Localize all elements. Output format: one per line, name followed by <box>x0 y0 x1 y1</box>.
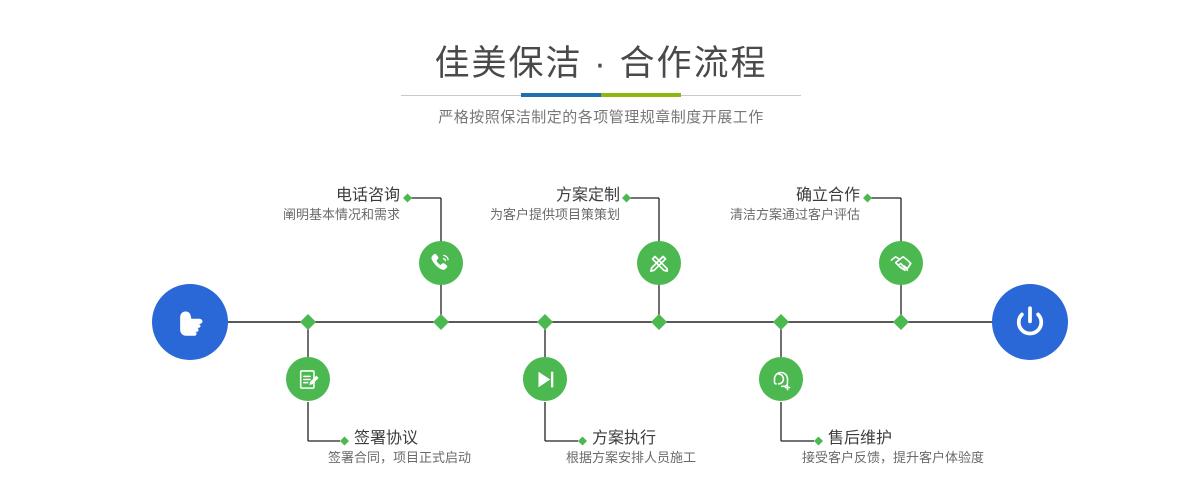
customer-service-icon <box>768 366 794 392</box>
label-step-6: 售后维护 接受客户反馈，提升客户体验度 <box>828 429 1128 467</box>
power-icon <box>1010 302 1050 342</box>
label-step-5-title: 确立合作 <box>610 186 860 206</box>
phone-ringing-icon <box>428 250 454 276</box>
timeline-diamond-step-5 <box>893 314 909 330</box>
process-flow-infographic: 佳美保洁 · 合作流程 严格按照保洁制定的各项管理规章制度开展工作 <box>0 0 1202 502</box>
label-step-3-title: 方案定制 <box>370 186 620 206</box>
pencil-ruler-icon <box>646 250 672 276</box>
node-step-2-sign[interactable] <box>286 357 330 401</box>
label-step-1-desc: 阐明基本情况和需求 <box>150 206 400 224</box>
handshake-icon <box>888 250 915 277</box>
node-step-3-plan[interactable] <box>637 241 681 285</box>
node-step-6-support[interactable] <box>759 357 803 401</box>
label-step-1: 电话咨询 阐明基本情况和需求 <box>150 186 400 224</box>
label-step-6-desc: 接受客户反馈，提升客户体验度 <box>802 449 1128 467</box>
timeline-diamond-step-3 <box>651 314 667 330</box>
label-step-5-desc: 清洁方案通过客户评估 <box>610 206 860 224</box>
label-step-3-desc: 为客户提供项目策策划 <box>370 206 620 224</box>
end-node-power[interactable] <box>992 284 1068 360</box>
label-step-1-title: 电话咨询 <box>150 186 400 206</box>
document-sign-icon <box>296 367 321 392</box>
timeline-diamond-step-6 <box>773 314 789 330</box>
timeline-graphics <box>0 0 1202 502</box>
timeline-diamond-step-2 <box>300 314 316 330</box>
pointing-hand-icon <box>169 301 211 343</box>
timeline-diamond-step-4 <box>537 314 553 330</box>
node-step-5-handshake[interactable] <box>879 241 923 285</box>
label-step-5: 确立合作 清洁方案通过客户评估 <box>610 186 860 224</box>
marker-step-2-label <box>340 437 349 446</box>
start-node-pointing-hand[interactable] <box>152 284 228 360</box>
label-step-3: 方案定制 为客户提供项目策策划 <box>370 186 620 224</box>
node-step-4-execute[interactable] <box>523 357 567 401</box>
label-step-6-title: 售后维护 <box>828 429 1128 449</box>
timeline-diamond-step-1 <box>433 314 449 330</box>
play-execute-icon <box>533 367 558 392</box>
node-step-1-phone[interactable] <box>419 241 463 285</box>
marker-step-5-label <box>863 194 872 203</box>
